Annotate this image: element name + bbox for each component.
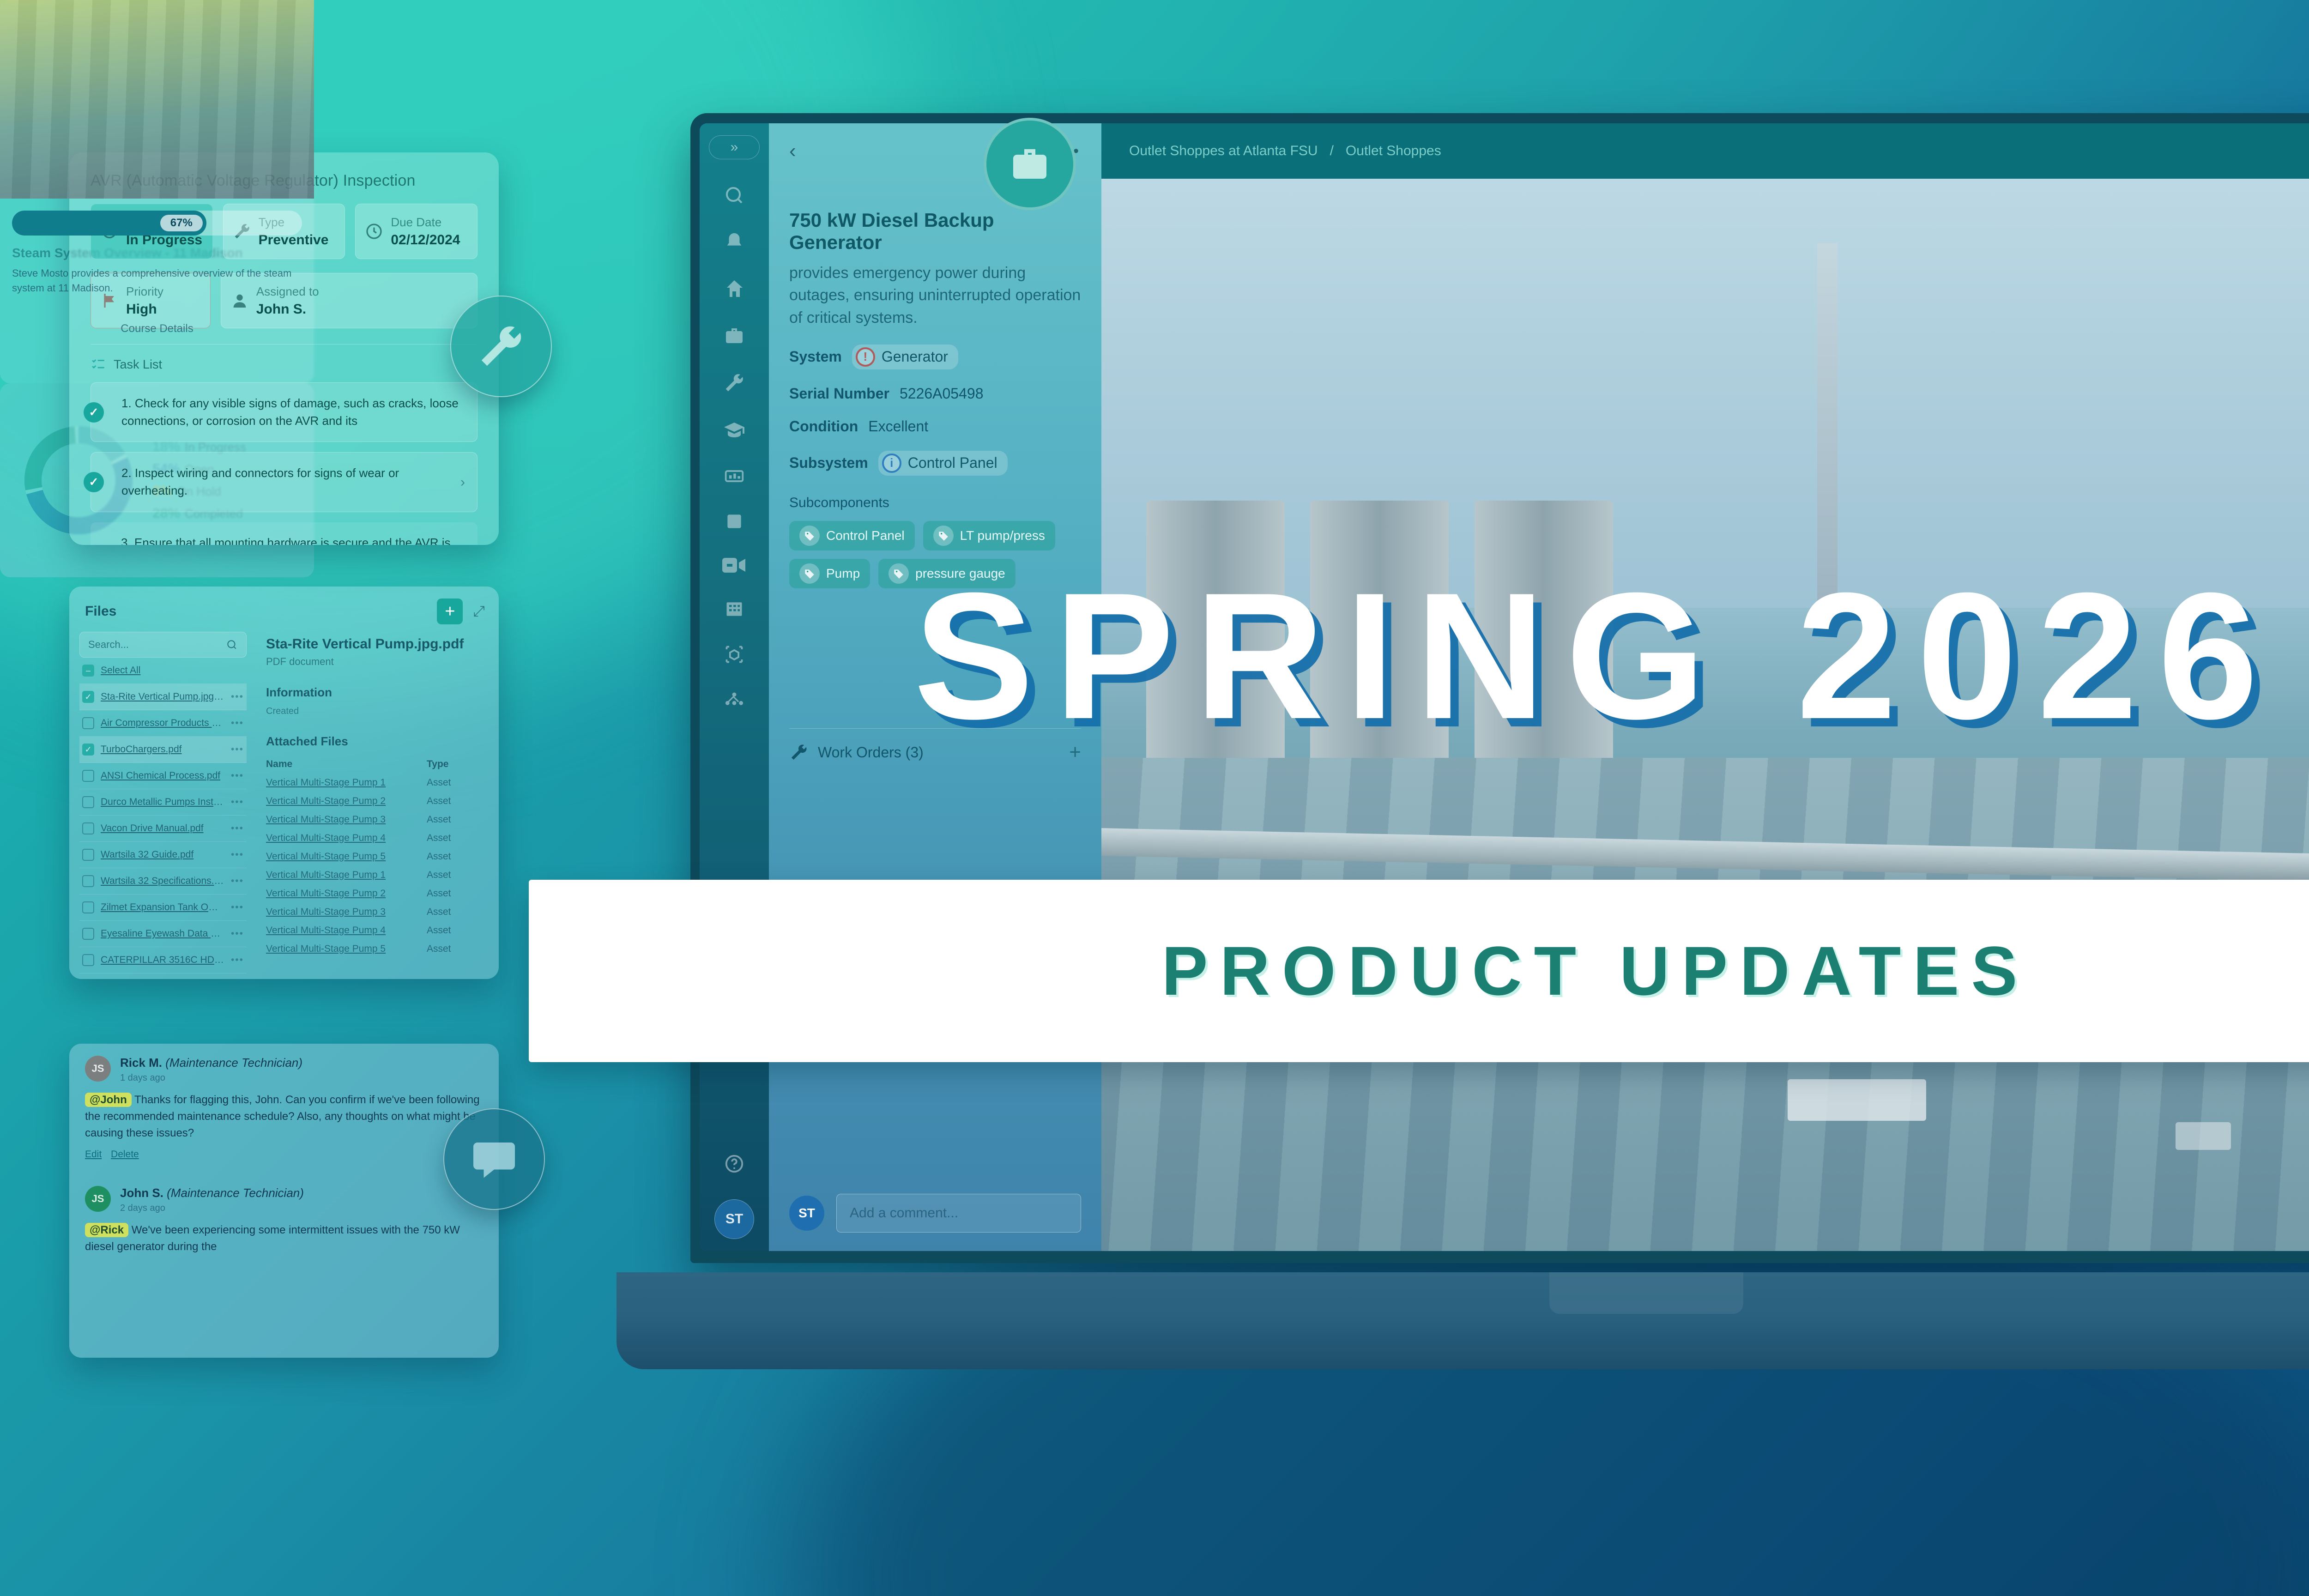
subsystem-label: Subsystem bbox=[789, 454, 868, 472]
question-circle-icon[interactable] bbox=[724, 1153, 745, 1174]
file-list-item[interactable]: Wartsila 32 Specifications.png••• bbox=[79, 868, 247, 895]
attached-file-type: Asset bbox=[427, 907, 487, 918]
attached-file-row[interactable]: Vertical Multi-Stage Pump 4Asset bbox=[266, 925, 487, 936]
attached-file-type: Asset bbox=[427, 888, 487, 899]
file-list-item[interactable]: Eyesaline Eyewash Data Sheet.pdf••• bbox=[79, 921, 247, 947]
comment-time: 2 days ago bbox=[120, 1203, 304, 1214]
comment-author: John S. (Maintenance Technician) bbox=[120, 1186, 304, 1200]
attached-file-type: Asset bbox=[427, 943, 487, 955]
attached-file-name[interactable]: Vertical Multi-Stage Pump 5 bbox=[266, 851, 427, 862]
photo-equipment bbox=[1788, 1079, 1926, 1121]
checkbox-icon[interactable] bbox=[82, 954, 94, 966]
attached-file-type: Asset bbox=[427, 870, 487, 881]
checkbox-icon[interactable] bbox=[82, 849, 94, 861]
checkbox-icon[interactable] bbox=[82, 796, 94, 808]
attached-file-row[interactable]: Vertical Multi-Stage Pump 1Asset bbox=[266, 870, 487, 881]
comment-body: @Rick We've been experiencing some inter… bbox=[85, 1222, 483, 1255]
comment-input[interactable]: Add a comment... bbox=[836, 1194, 1081, 1233]
attached-file-type: Asset bbox=[427, 814, 487, 825]
field-due-date-label: Due Date bbox=[391, 215, 460, 230]
photo-equipment bbox=[2176, 1122, 2231, 1150]
asset-condition-row: Condition Excellent bbox=[789, 418, 1081, 435]
subcomponents-label: Subcomponents bbox=[789, 495, 889, 511]
asset-subsystem-row: Subsystem i Control Panel bbox=[789, 451, 1081, 476]
breadcrumb-item-2[interactable]: Outlet Shoppes bbox=[1346, 143, 1441, 159]
checkbox-icon[interactable] bbox=[82, 901, 94, 913]
asset-serial-row: Serial Number 5226A05498 bbox=[789, 385, 1081, 402]
back-button[interactable]: ‹ bbox=[789, 139, 796, 163]
sidebar-collapse-button[interactable]: » bbox=[709, 135, 760, 159]
serial-value: 5226A05498 bbox=[900, 385, 984, 402]
comment-item: JS Rick M. (Maintenance Technician) 1 da… bbox=[69, 1044, 499, 1160]
row-menu-icon[interactable]: ••• bbox=[231, 770, 244, 781]
home-icon[interactable] bbox=[723, 278, 745, 300]
checkbox-icon[interactable] bbox=[82, 928, 94, 940]
bar-chart-icon[interactable] bbox=[723, 466, 745, 486]
file-list-item[interactable]: CATERPILLAR 3516C HD Operation...••• bbox=[79, 947, 247, 973]
mention-tag[interactable]: @Rick bbox=[85, 1223, 128, 1237]
attached-file-row[interactable]: Vertical Multi-Stage Pump 3Asset bbox=[266, 907, 487, 918]
file-name: CATERPILLAR 3516C HD Operation... bbox=[101, 955, 224, 966]
col-name: Name bbox=[266, 759, 427, 770]
comment-actions: Edit Delete bbox=[85, 1149, 483, 1160]
task-text: 3. Ensure that all mounting hardware is … bbox=[121, 536, 450, 545]
condition-label: Condition bbox=[789, 418, 858, 435]
task-text: 1. Check for any visible signs of damage… bbox=[121, 396, 459, 428]
edit-link[interactable]: Edit bbox=[85, 1149, 102, 1160]
subcomponent-label: LT pump/press bbox=[960, 528, 1045, 543]
breadcrumb-separator: / bbox=[1330, 143, 1334, 159]
attached-file-row[interactable]: Vertical Multi-Stage Pump 5Asset bbox=[266, 851, 487, 862]
field-due-date[interactable]: Due Date 02/12/2024 bbox=[355, 204, 478, 259]
page-title: SPRING 2026 bbox=[0, 566, 2309, 746]
file-list-item[interactable]: WWP User Manual.pdf••• bbox=[79, 973, 247, 979]
course-progress-label: 67% bbox=[160, 215, 203, 231]
checkbox-icon[interactable] bbox=[82, 822, 94, 834]
attached-file-row[interactable]: Vertical Multi-Stage Pump 2Asset bbox=[266, 888, 487, 899]
floating-badge-chat[interactable] bbox=[443, 1108, 545, 1210]
subcomponent-label: Control Panel bbox=[826, 528, 905, 543]
attached-file-type: Asset bbox=[427, 777, 487, 788]
row-menu-icon[interactable]: ••• bbox=[231, 955, 244, 966]
comments-card: JS Rick M. (Maintenance Technician) 1 da… bbox=[69, 1044, 499, 1358]
alert-icon: ! bbox=[856, 347, 875, 367]
avatar: JS bbox=[85, 1056, 111, 1082]
comment-author-name: Rick M. bbox=[120, 1056, 162, 1070]
attached-file-name[interactable]: Vertical Multi-Stage Pump 4 bbox=[266, 833, 427, 844]
file-list-item[interactable]: Wartsila 32 Guide.pdf••• bbox=[79, 842, 247, 868]
asset-system-row: System ! Generator bbox=[789, 345, 1081, 369]
system-value: Generator bbox=[882, 348, 948, 365]
attached-file-type: Asset bbox=[427, 851, 487, 862]
asset-description: provides emergency power during outages,… bbox=[789, 262, 1081, 329]
checkbox-icon[interactable] bbox=[82, 770, 94, 782]
comment-time: 1 days ago bbox=[120, 1073, 302, 1083]
photo-smokestack bbox=[1817, 243, 1838, 607]
laptop-base bbox=[617, 1272, 2309, 1369]
file-list-item[interactable]: Vacon Drive Manual.pdf••• bbox=[79, 816, 247, 842]
file-name: Vacon Drive Manual.pdf bbox=[101, 823, 224, 834]
tag-icon bbox=[799, 526, 820, 546]
col-type: Type bbox=[427, 759, 487, 770]
course-thumbnail bbox=[0, 0, 314, 199]
brand-briefcase-badge bbox=[984, 118, 1076, 210]
poster-canvas: AVR (Automatic Voltage Regulator) Inspec… bbox=[0, 0, 2309, 1596]
row-menu-icon[interactable]: ••• bbox=[231, 902, 244, 913]
task-list-label: Task List bbox=[114, 357, 162, 372]
breadcrumb: Outlet Shoppes at Atlanta FSU / Outlet S… bbox=[1101, 123, 2309, 179]
attached-file-type: Asset bbox=[427, 833, 487, 844]
file-list-item[interactable]: ANSI Chemical Process.pdf••• bbox=[79, 763, 247, 789]
add-comment-row: ST Add a comment... bbox=[789, 1194, 1081, 1233]
subtitle-text: PRODUCT UPDATES bbox=[1162, 931, 2030, 1011]
task-text: 2. Inspect wiring and connectors for sig… bbox=[121, 466, 399, 497]
row-menu-icon[interactable]: ••• bbox=[231, 928, 244, 939]
mention-tag[interactable]: @John bbox=[85, 1093, 132, 1107]
wrench-icon bbox=[476, 321, 526, 372]
attached-file-name[interactable]: Vertical Multi-Stage Pump 5 bbox=[266, 943, 427, 955]
course-card: 67% Steam System Overview - 11 Madison S… bbox=[0, 0, 314, 383]
attached-file-name[interactable]: Vertical Multi-Stage Pump 1 bbox=[266, 777, 427, 788]
field-priority-value: High bbox=[126, 302, 163, 317]
bell-icon[interactable] bbox=[724, 231, 745, 253]
attached-files-header: Name Type bbox=[266, 759, 487, 770]
checklist-icon bbox=[91, 357, 106, 372]
row-menu-icon[interactable]: ••• bbox=[231, 849, 244, 860]
tag-icon bbox=[933, 526, 954, 546]
chevron-right-icon: › bbox=[461, 542, 465, 545]
current-user-avatar: ST bbox=[789, 1196, 824, 1231]
breadcrumb-item-1[interactable]: Outlet Shoppes at Atlanta FSU bbox=[1129, 143, 1318, 159]
file-name: Zilmet Expansion Tank Owner Ma... bbox=[101, 902, 224, 913]
attached-file-name[interactable]: Vertical Multi-Stage Pump 4 bbox=[266, 925, 427, 936]
info-icon: i bbox=[882, 453, 901, 473]
attached-file-name[interactable]: Vertical Multi-Stage Pump 3 bbox=[266, 814, 427, 825]
task-item[interactable]: ✓ 1. Check for any visible signs of dama… bbox=[91, 382, 478, 442]
attached-files-rows: Vertical Multi-Stage Pump 1AssetVertical… bbox=[266, 777, 487, 955]
chevron-right-icon: › bbox=[460, 472, 465, 492]
work-orders-label: Work Orders (3) bbox=[818, 744, 924, 761]
file-name: Durco Metallic Pumps Instructions... bbox=[101, 797, 224, 808]
course-details-button[interactable]: Course Details bbox=[0, 322, 314, 335]
wrench-icon[interactable] bbox=[723, 372, 745, 394]
checkbox-icon[interactable] bbox=[82, 875, 94, 887]
file-list-item[interactable]: Zilmet Expansion Tank Owner Ma...••• bbox=[79, 895, 247, 921]
task-list-header: Task List bbox=[69, 345, 499, 372]
task-item[interactable]: ✓ 2. Inspect wiring and connectors for s… bbox=[91, 452, 478, 512]
attached-file-row[interactable]: Vertical Multi-Stage Pump 4Asset bbox=[266, 833, 487, 844]
course-description: Steve Mosto provides a comprehensive ove… bbox=[12, 266, 302, 296]
subsystem-pill[interactable]: i Control Panel bbox=[878, 451, 1008, 476]
system-label: System bbox=[789, 348, 842, 365]
row-menu-icon[interactable]: ••• bbox=[231, 823, 244, 834]
subcomponent-chip[interactable]: Control Panel bbox=[789, 521, 915, 550]
file-name: Wartsila 32 Specifications.png bbox=[101, 876, 224, 887]
floating-badge-wrench[interactable] bbox=[450, 296, 552, 397]
subsystem-value: Control Panel bbox=[908, 454, 997, 472]
comment-author-name: John S. bbox=[120, 1186, 163, 1200]
file-name: ANSI Chemical Process.pdf bbox=[101, 770, 224, 781]
attached-file-type: Asset bbox=[427, 796, 487, 807]
attached-file-row[interactable]: Vertical Multi-Stage Pump 1Asset bbox=[266, 777, 487, 788]
comment-body: @John Thanks for flagging this, John. Ca… bbox=[85, 1092, 483, 1142]
attached-file-row[interactable]: Vertical Multi-Stage Pump 5Asset bbox=[266, 943, 487, 955]
briefcase-icon[interactable] bbox=[723, 325, 745, 347]
field-due-date-value: 02/12/2024 bbox=[391, 232, 460, 248]
serial-label: Serial Number bbox=[789, 385, 889, 402]
comment-author-role: (Maintenance Technician) bbox=[165, 1056, 302, 1070]
clipboard-icon[interactable] bbox=[723, 511, 745, 532]
user-avatar[interactable]: ST bbox=[714, 1199, 754, 1239]
task-check-icon: ✓ bbox=[84, 472, 104, 492]
comment-text: Thanks for flagging this, John. Can you … bbox=[85, 1094, 480, 1139]
file-list-item[interactable]: Durco Metallic Pumps Instructions...••• bbox=[79, 789, 247, 816]
clock-icon bbox=[365, 222, 383, 241]
attached-file-type: Asset bbox=[427, 925, 487, 936]
condition-value: Excellent bbox=[868, 418, 928, 435]
row-menu-icon[interactable]: ••• bbox=[231, 797, 244, 808]
comment-author-role: (Maintenance Technician) bbox=[167, 1186, 304, 1200]
attached-file-name[interactable]: Vertical Multi-Stage Pump 2 bbox=[266, 888, 427, 899]
file-name: Wartsila 32 Guide.pdf bbox=[101, 849, 224, 860]
briefcase-icon bbox=[1008, 142, 1052, 186]
subcomponent-chip[interactable]: LT pump/press bbox=[923, 521, 1055, 550]
row-menu-icon[interactable]: ••• bbox=[231, 876, 244, 887]
comment-author: Rick M. (Maintenance Technician) bbox=[120, 1056, 302, 1070]
attached-file-row[interactable]: Vertical Multi-Stage Pump 3Asset bbox=[266, 814, 487, 825]
graduation-cap-icon[interactable] bbox=[723, 419, 746, 441]
attached-file-name[interactable]: Vertical Multi-Stage Pump 2 bbox=[266, 796, 427, 807]
search-icon[interactable] bbox=[723, 184, 745, 206]
comment-item: JS John S. (Maintenance Technician) 2 da… bbox=[69, 1174, 499, 1255]
attached-file-name[interactable]: Vertical Multi-Stage Pump 1 bbox=[266, 870, 427, 881]
task-item[interactable]: 3. Ensure that all mounting hardware is … bbox=[91, 522, 478, 545]
system-pill[interactable]: ! Generator bbox=[852, 345, 958, 369]
field-assigned-value: John S. bbox=[256, 302, 319, 317]
subtitle-banner: PRODUCT UPDATES bbox=[529, 880, 2309, 1062]
course-progress-bar: 67% bbox=[12, 211, 302, 236]
delete-link[interactable]: Delete bbox=[111, 1149, 139, 1160]
attached-file-row[interactable]: Vertical Multi-Stage Pump 2Asset bbox=[266, 796, 487, 807]
attached-file-name[interactable]: Vertical Multi-Stage Pump 3 bbox=[266, 907, 427, 918]
task-check-icon: ✓ bbox=[84, 402, 104, 423]
file-name: Eyesaline Eyewash Data Sheet.pdf bbox=[101, 928, 224, 939]
avatar: JS bbox=[85, 1186, 111, 1212]
chat-icon bbox=[469, 1134, 519, 1184]
comment-text: We've been experiencing some intermitten… bbox=[85, 1224, 460, 1253]
asset-title: 750 kW Diesel Backup Generator bbox=[789, 209, 1081, 254]
